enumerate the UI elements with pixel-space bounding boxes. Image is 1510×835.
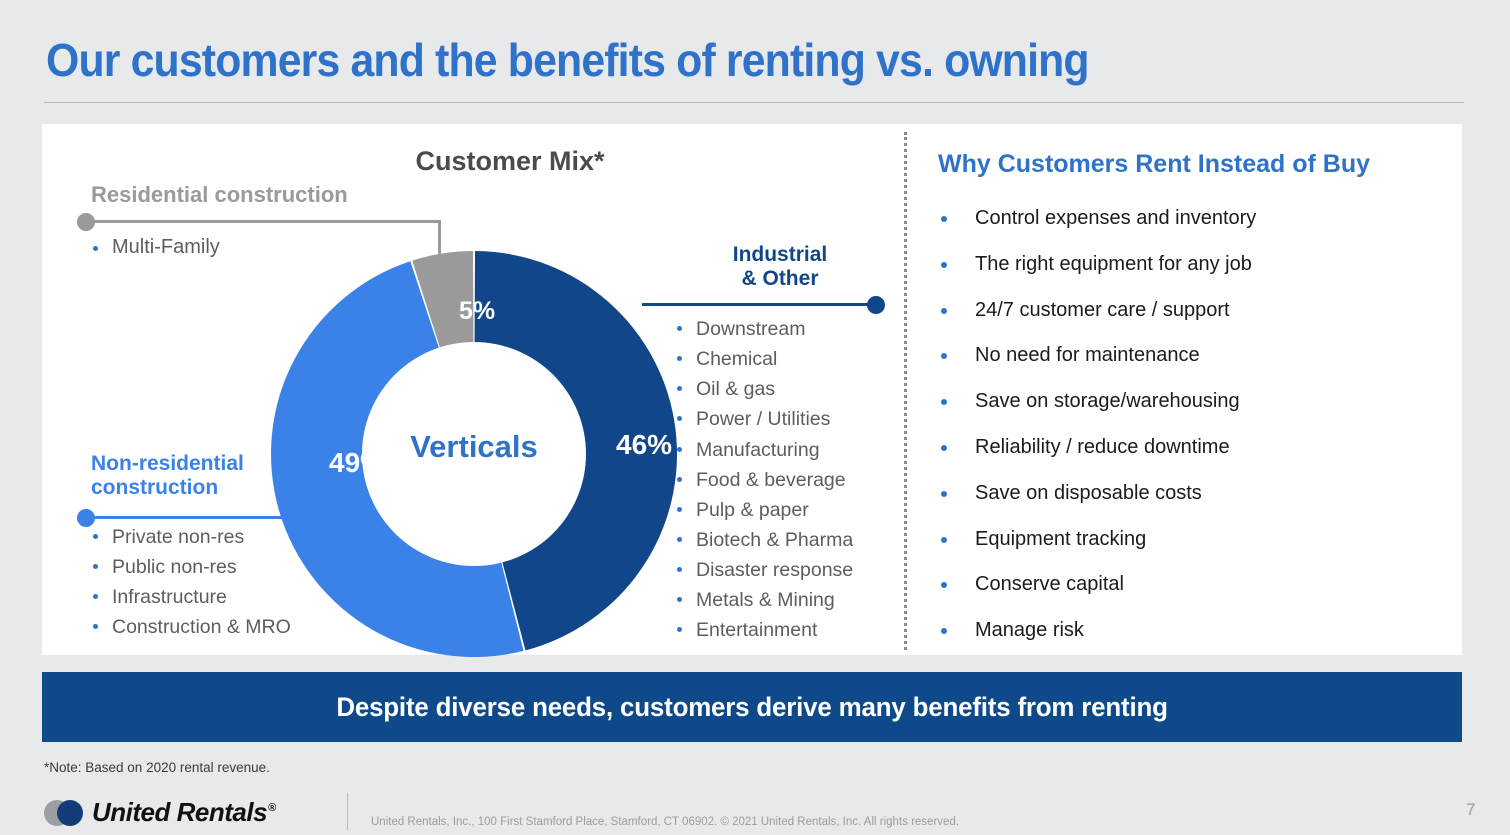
list-item: Pulp & paper — [670, 495, 853, 525]
logo-circle-navy-icon — [57, 800, 83, 826]
title-divider — [44, 102, 1464, 103]
list-item: The right equipment for any job — [937, 242, 1256, 288]
list-item: No need for maintenance — [937, 333, 1256, 379]
donut-value-label-residential: 5% — [459, 297, 495, 326]
list-item: Disaster response — [670, 555, 853, 585]
list-item: Food & beverage — [670, 465, 853, 495]
list-item: Private non-res — [86, 522, 291, 552]
list-item: Chemical — [670, 344, 853, 374]
donut-value-label-non-residential: 49% — [329, 447, 385, 479]
content-card: Customer Mix* Residential construction M… — [42, 124, 1462, 655]
list-item: Construction & MRO — [86, 612, 291, 642]
list-item: Biotech & Pharma — [670, 525, 853, 555]
list-item: Conserve capital — [937, 562, 1256, 608]
list-item: Equipment tracking — [937, 517, 1256, 563]
list-item: Multi-Family — [86, 234, 220, 260]
list-item: Save on storage/warehousing — [937, 379, 1256, 425]
residential-items: Multi-Family — [86, 234, 220, 260]
list-item: 24/7 customer care / support — [937, 288, 1256, 334]
list-item: Control expenses and inventory — [937, 196, 1256, 242]
footnote: *Note: Based on 2020 rental revenue. — [44, 760, 270, 775]
non-residential-items: Private non-res Public non-res Infrastru… — [86, 522, 291, 643]
residential-connector-line-horizontal — [86, 220, 441, 223]
united-rentals-logo-icon — [44, 799, 84, 827]
list-item: Save on disposable costs — [937, 471, 1256, 517]
united-rentals-logo: United Rentals® — [44, 797, 276, 828]
industrial-label-line-1: Industrial — [687, 243, 873, 267]
list-item: Reliability / reduce downtime — [937, 425, 1256, 471]
summary-banner: Despite diverse needs, customers derive … — [42, 672, 1462, 742]
industrial-and-other-label: Industrial & Other — [687, 243, 873, 290]
page-title: Our customers and the benefits of rentin… — [46, 33, 1089, 87]
summary-banner-text: Despite diverse needs, customers derive … — [336, 692, 1167, 723]
non-residential-item-list: Private non-res Public non-res Infrastru… — [86, 522, 291, 643]
residential-item-list: Multi-Family — [86, 234, 220, 260]
list-item: Entertainment — [670, 615, 853, 645]
benefits-list: Control expenses and inventory The right… — [937, 196, 1256, 654]
industrial-connector-dot — [867, 296, 885, 314]
footer-divider — [347, 793, 348, 830]
customer-mix-heading: Customer Mix* — [360, 146, 660, 177]
list-item: Manage risk — [937, 608, 1256, 654]
panel-divider — [904, 132, 907, 650]
donut-value-label-industrial: 46% — [616, 429, 672, 461]
logo-wordmark-text: United Rentals — [92, 797, 267, 827]
list-item: Manufacturing — [670, 435, 853, 465]
residential-construction-label: Residential construction — [91, 182, 348, 208]
list-item: Power / Utilities — [670, 404, 853, 434]
page-number: 7 — [1466, 800, 1475, 820]
list-item: Downstream — [670, 314, 853, 344]
slide-root: Our customers and the benefits of rentin… — [0, 0, 1510, 835]
registered-trademark-icon: ® — [268, 802, 276, 814]
industrial-label-line-2: & Other — [687, 267, 873, 291]
benefits-panel-title: Why Customers Rent Instead of Buy — [938, 150, 1370, 179]
industrial-items: Downstream Chemical Oil & gas Power / Ut… — [670, 314, 853, 645]
industrial-item-list: Downstream Chemical Oil & gas Power / Ut… — [670, 314, 853, 645]
list-item: Metals & Mining — [670, 585, 853, 615]
list-item: Infrastructure — [86, 582, 291, 612]
list-item: Oil & gas — [670, 374, 853, 404]
footer-copyright: United Rentals, Inc., 100 First Stamford… — [371, 816, 959, 828]
logo-wordmark: United Rentals® — [92, 797, 276, 828]
list-item: Public non-res — [86, 552, 291, 582]
customer-mix-donut-chart: Verticals 46% 49% 5% — [269, 249, 679, 659]
